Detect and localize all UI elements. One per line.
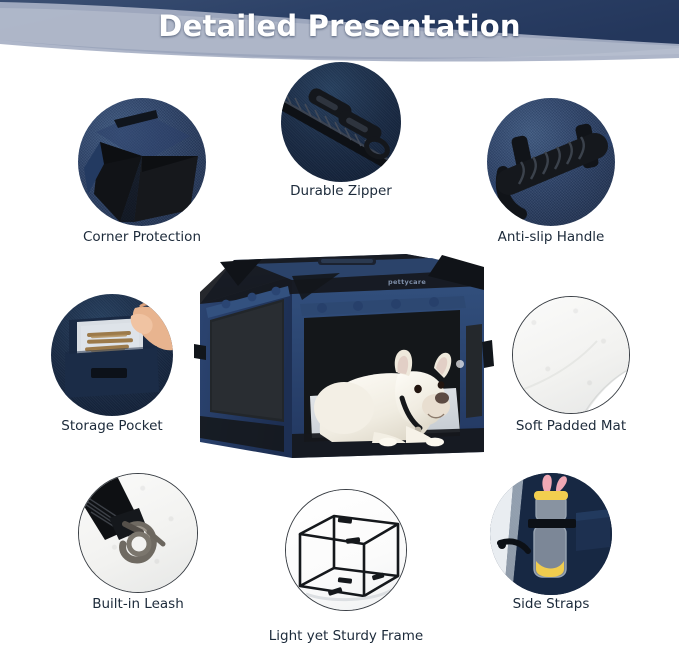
page-title: Detailed Presentation xyxy=(0,9,679,43)
anti-slip-handle-icon xyxy=(487,98,615,226)
durable-zipper-icon xyxy=(281,62,401,182)
svg-text:pettycare: pettycare xyxy=(388,278,426,286)
storage-pocket-label: Storage Pocket xyxy=(0,418,242,434)
built-in-leash-icon xyxy=(78,473,198,593)
soft-padded-mat-icon xyxy=(512,296,630,414)
light-yet-sturdy-frame-icon xyxy=(285,489,407,611)
soft-padded-mat-label: Soft Padded Mat xyxy=(441,418,679,434)
storage-pocket-icon xyxy=(51,294,173,416)
corner-protection-icon xyxy=(78,98,206,226)
infographic-page: Detailed Presentation xyxy=(0,0,679,650)
anti-slip-handle-label: Anti-slip Handle xyxy=(421,229,679,245)
side-straps-label: Side Straps xyxy=(421,596,679,612)
main-product-image: pettycare xyxy=(192,246,498,494)
durable-zipper-label: Durable Zipper xyxy=(211,183,471,199)
light-yet-sturdy-frame-label: Light yet Sturdy Frame xyxy=(216,628,476,644)
built-in-leash-label: Built-in Leash xyxy=(8,596,268,612)
corner-protection-label: Corner Protection xyxy=(12,229,272,245)
side-straps-icon xyxy=(490,473,612,595)
header-banner: Detailed Presentation xyxy=(0,0,679,66)
